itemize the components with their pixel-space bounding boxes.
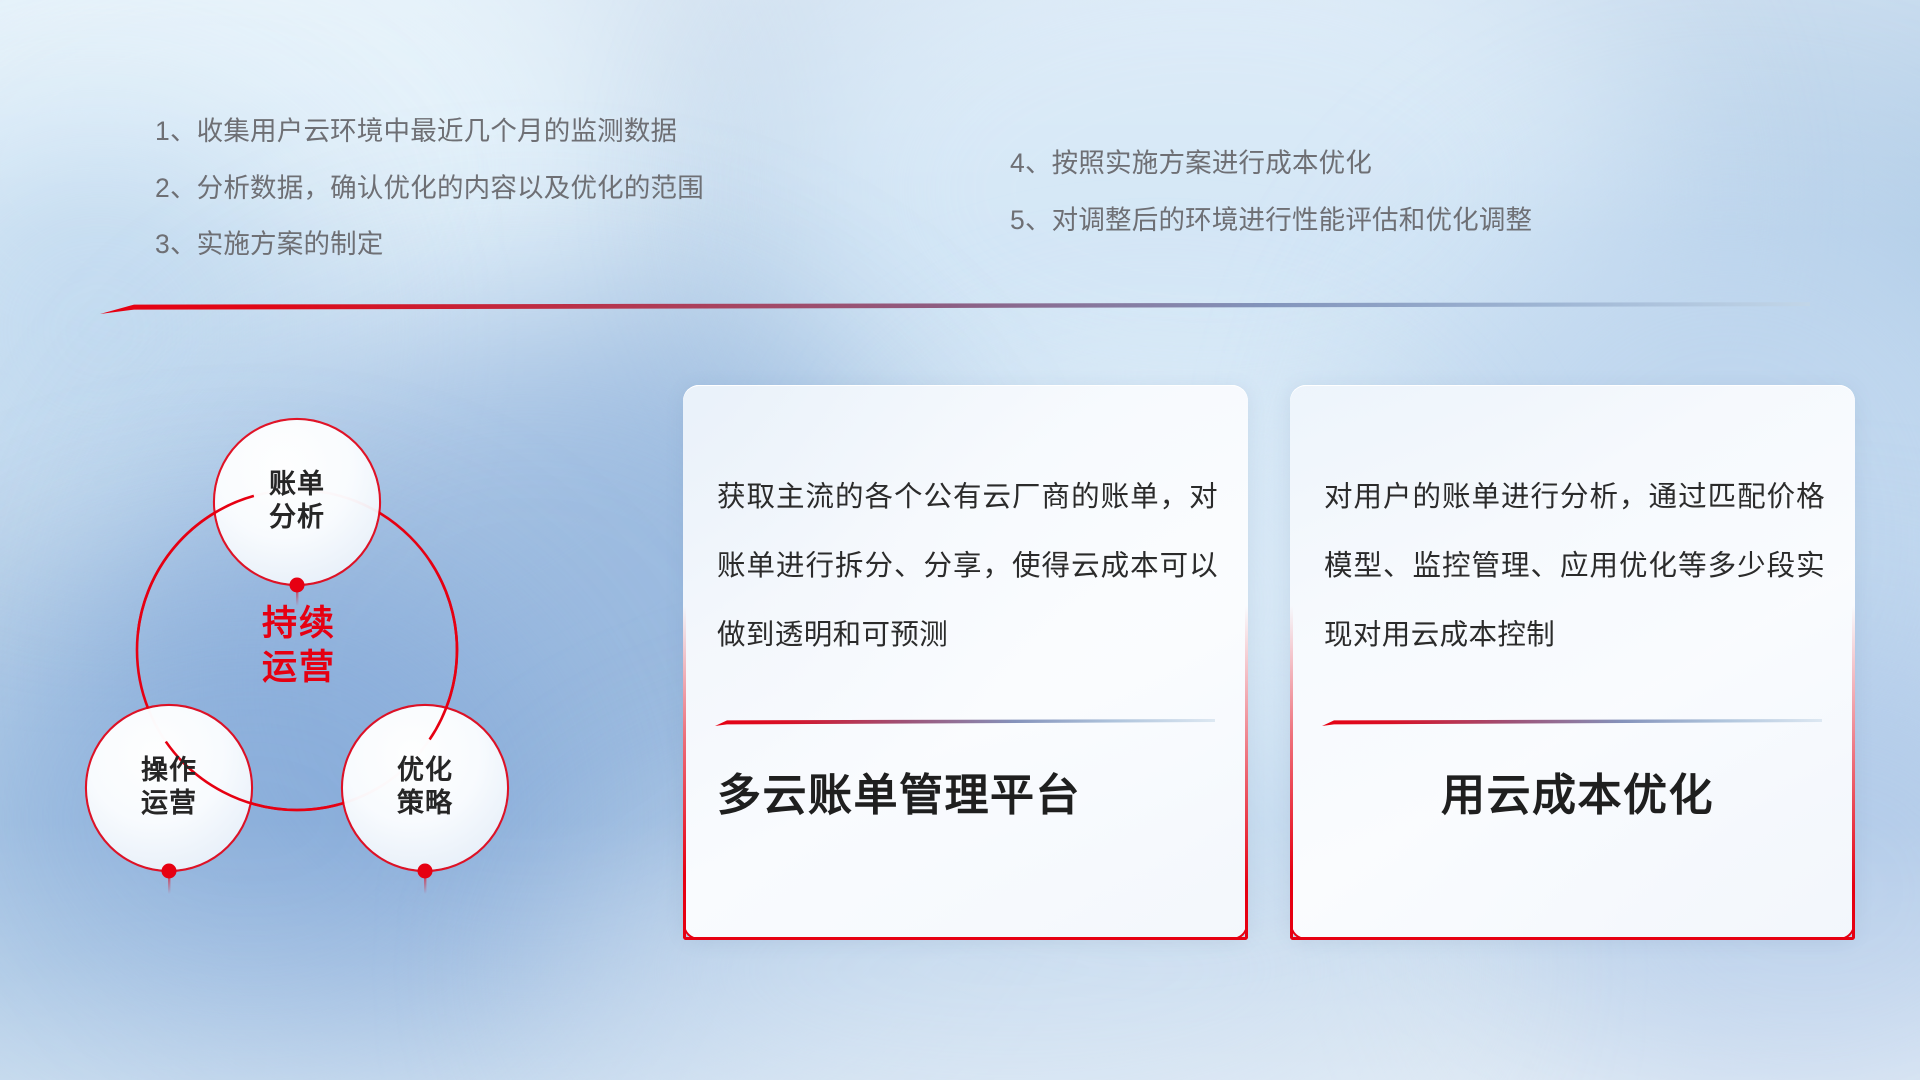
card-rule	[715, 717, 1218, 727]
node-bubble-top	[215, 420, 379, 584]
step-item: 2、分析数据，确认优化的内容以及优化的范围	[155, 175, 704, 202]
step-item: 5、对调整后的环境进行性能评估和优化调整	[1010, 207, 1532, 234]
node-bubble-right	[343, 706, 507, 870]
feature-card-multicloud-bill-platform[interactable]: 获取主流的各个公有云厂商的账单，对账单进行拆分、分享，使得云成本可以做到透明和可…	[683, 385, 1248, 940]
section-divider	[100, 299, 1810, 315]
steps-left-column: 1、收集用户云环境中最近几个月的监测数据 2、分析数据，确认优化的内容以及优化的…	[155, 118, 704, 258]
step-item: 1、收集用户云环境中最近几个月的监测数据	[155, 118, 704, 145]
node-dot-left	[162, 864, 177, 879]
card-title: 用云成本优化	[1324, 770, 1831, 823]
card-description: 对用户的账单进行分析，通过匹配价格模型、监控管理、应用优化等多少段实现对用云成本…	[1324, 463, 1825, 670]
feature-card-cloud-cost-optimization[interactable]: 对用户的账单进行分析，通过匹配价格模型、监控管理、应用优化等多少段实现对用云成本…	[1290, 385, 1855, 940]
step-item: 3、实施方案的制定	[155, 231, 704, 258]
node-bubble-left	[87, 706, 251, 870]
card-rule	[1322, 717, 1825, 727]
card-title: 多云账单管理平台	[717, 770, 1224, 823]
card-top-highlight	[1290, 385, 1855, 403]
node-dot-right	[418, 864, 433, 879]
card-description: 获取主流的各个公有云厂商的账单，对账单进行拆分、分享，使得云成本可以做到透明和可…	[717, 463, 1218, 670]
step-item: 4、按照实施方案进行成本优化	[1010, 150, 1532, 177]
steps-right-column: 4、按照实施方案进行成本优化 5、对调整后的环境进行性能评估和优化调整	[1010, 150, 1532, 233]
node-dot-top	[290, 578, 305, 593]
card-top-highlight	[683, 385, 1248, 403]
continuous-operation-diagram: 账单 分析 操作 运营 优化 策略 持续 运营	[85, 350, 665, 950]
